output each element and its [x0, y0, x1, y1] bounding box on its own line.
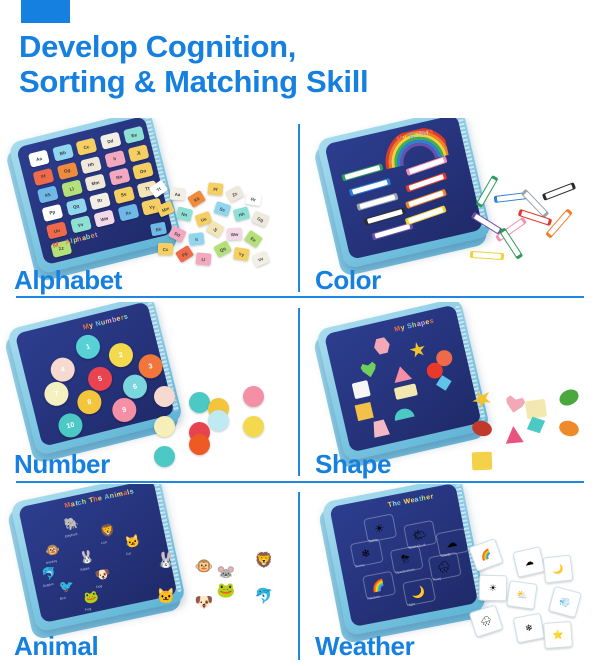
alphabet-tile: Xx: [117, 204, 139, 222]
weather-icon: ☀: [369, 519, 390, 538]
animal-loose-piece: 🐬: [254, 586, 274, 606]
alphabet-tile: Aa: [28, 150, 50, 168]
weather-loose-cards: 🌈☁🌙☀⛅💨🌧❄⭐: [466, 536, 598, 646]
weather-loose-card: 🌙: [543, 555, 574, 584]
crayon: [349, 178, 391, 196]
crayon: [341, 163, 383, 181]
alphabet-loose-tile: Kk: [187, 190, 206, 208]
weather-loose-card: 💨: [548, 586, 582, 618]
weather-book-title: The Weather: [387, 493, 434, 509]
animal-loose-piece: 🦁: [254, 550, 274, 570]
alphabet-tile: Mm: [84, 174, 106, 192]
weather-book: ☀Sunny🌤Moon Cloud☁Cloudy❄Snowy⛈Thunderst…: [321, 484, 486, 636]
alphabet-tile: Gg: [56, 162, 78, 180]
shape-piece: [355, 402, 374, 421]
animal-mini-label: Cat: [126, 551, 132, 556]
alphabet-tile: Ii: [104, 150, 126, 168]
number-book-title: My Numbers: [82, 313, 128, 331]
alphabet-loose-tile: Zz: [225, 185, 244, 203]
alphabet-tile-grid: AaBbCcDdEeFfGgHhIiJjKkLlMmNnOoPpQqRrSsTt…: [16, 118, 144, 148]
number-loose-disc: [243, 386, 264, 407]
weather-loose-card: ☀: [479, 575, 507, 601]
alphabet-tile: Nn: [108, 168, 130, 186]
alphabet-tile: Pp: [41, 203, 63, 221]
alphabet-loose-tile: Ss: [214, 201, 232, 217]
shape-loose-piece: [470, 419, 493, 438]
alphabet-tile: Jj: [128, 144, 150, 162]
number-circle: 10: [56, 411, 85, 440]
alphabet-loose-tile: Hh: [233, 206, 251, 221]
weather-loose-card: ❄: [513, 613, 545, 644]
rabbit-icon: 🐰: [76, 547, 97, 568]
number-circle: 4: [48, 355, 77, 384]
panel-animal: 🐘Elephant🦁Lion🐵Monkey🐰Rabbit🐱Cat🐬Dolphin…: [0, 484, 299, 666]
bird-icon: 🐦: [56, 576, 77, 597]
alphabet-tile: Qq: [65, 197, 87, 215]
shape-piece: [394, 383, 418, 400]
weather-mini-label: Snowy: [355, 563, 365, 569]
weather-loose-card: ⛅: [506, 580, 537, 610]
shape-piece: [391, 364, 412, 383]
crayon: [356, 193, 398, 211]
panel-label-shape: Shape: [315, 449, 391, 480]
alphabet-tile: Ww: [93, 209, 115, 227]
weather-icon: ❄: [355, 544, 376, 563]
shape-grid: [324, 305, 455, 335]
color-loose-crayons: [466, 180, 586, 275]
number-circle: 2: [106, 341, 135, 370]
panel-label-animal: Animal: [14, 631, 98, 662]
alphabet-loose-tile: Ee: [244, 230, 263, 248]
alphabet-tile: Ll: [61, 179, 83, 197]
alphabet-tile: Ff: [32, 167, 54, 185]
weather-loose-card: 🌈: [468, 538, 503, 572]
alphabet-loose-tile: Rr: [245, 192, 262, 206]
alphabet-loose-tile: Bb: [150, 222, 167, 237]
shape-loose-piece: [557, 418, 581, 438]
shape-piece: [371, 419, 390, 438]
alphabet-loose-tile: Yy: [233, 247, 250, 261]
panel-label-weather: Weather: [315, 631, 414, 662]
animal-loose-pieces: 🐰🐵🐭🦁🐱🐶🐸🐬: [148, 546, 278, 631]
animal-mini-label: Bird: [60, 596, 66, 601]
weather-loose-card: ☁: [512, 546, 545, 578]
panel-alphabet: AaBbCcDdEeFfGgHhIiJjKkLlMmNnOoPpQqRrSsTt…: [0, 118, 299, 300]
alphabet-loose-tile: Ff: [207, 182, 223, 196]
animal-mini-label: Frog: [84, 607, 91, 612]
number-circle: 7: [42, 379, 71, 408]
number-loose-disc: [208, 410, 229, 431]
alphabet-loose-tile: Nn: [176, 206, 193, 221]
shape-loose-piece: [469, 386, 495, 412]
weather-icon: 🌙: [408, 582, 429, 601]
animal-loose-piece: 🐱: [156, 586, 176, 606]
animal-mini-label: Rabbit: [80, 566, 90, 572]
alphabet-loose-tile: Ww: [227, 228, 243, 241]
alphabet-tile: Dd: [99, 132, 121, 150]
alphabet-tile: Rr: [89, 192, 111, 210]
monkey-icon: 🐵: [42, 540, 63, 561]
alphabet-tile: Uu: [46, 221, 68, 239]
accent-square: [21, 0, 70, 23]
shape-loose-piece: [557, 386, 582, 408]
weather-book-cover: ☀Sunny🌤Moon Cloud☁Cloudy❄Snowy⛈Thunderst…: [329, 484, 478, 627]
number-loose-disc: [154, 446, 175, 467]
shape-loose-pieces: [466, 382, 591, 464]
shape-loose-piece: [504, 425, 523, 444]
alphabet-loose-tile: Aa: [170, 188, 185, 201]
panel-label-number: Number: [14, 449, 110, 480]
number-loose-disc: [189, 392, 210, 413]
loose-crayon: [542, 182, 576, 201]
loose-crayon: [475, 175, 498, 208]
number-loose-discs: [150, 380, 275, 460]
alphabet-tile: Vv: [70, 215, 92, 233]
alphabet-loose-tile: Tt: [149, 180, 168, 198]
number-circle: 8: [75, 388, 104, 417]
cat-icon: 🐱: [122, 531, 143, 552]
alphabet-tile: Bb: [52, 144, 74, 162]
shape-book-title: My Shapes: [394, 318, 435, 334]
weather-loose-card: 🌧: [469, 604, 504, 637]
weather-mini-label: Night: [407, 602, 415, 607]
weather-mini-label: Rainy: [433, 576, 442, 581]
panel-number: 12345678910 My Numbers Number: [0, 302, 299, 484]
shape-loose-piece: [525, 399, 547, 420]
panel-weather: ☀Sunny🌤Moon Cloud☁Cloudy❄Snowy⛈Thunderst…: [301, 484, 600, 666]
weather-loose-card: ⭐: [543, 621, 573, 649]
shape-piece: [352, 380, 371, 399]
animal-loose-piece: 🐶: [194, 592, 214, 612]
number-loose-disc: [243, 416, 264, 437]
number-circle: 1: [73, 332, 102, 361]
panel-label-alphabet: Alphabet: [14, 265, 122, 296]
alphabet-loose-tile: Gg: [251, 211, 269, 228]
alphabet-tile: Ss: [113, 186, 135, 204]
alphabet-loose-tile: Cc: [158, 243, 173, 255]
crayon: [364, 207, 406, 225]
alphabet-loose-tile: Vv: [251, 250, 270, 267]
weather-icon: ☁: [441, 533, 462, 552]
product-feature-image: Develop Cognition, Sorting & Matching Sk…: [0, 0, 600, 664]
weather-icon: 🌧: [433, 557, 454, 576]
weather-mini-label: Rainbow: [367, 594, 380, 600]
number-loose-disc: [154, 386, 175, 407]
shape-piece: [372, 336, 391, 355]
panel-label-color: Color: [315, 265, 381, 296]
page-title-line2: Sorting & Matching Skill: [19, 65, 579, 100]
alphabet-loose-tile: Dd: [168, 225, 187, 242]
panel-shape: My Shapes Shape: [301, 302, 600, 484]
shape-piece: [408, 340, 427, 359]
weather-icon: 🌤: [409, 525, 430, 544]
shape-book: My Shapes: [316, 302, 491, 462]
panel-color: My Colors Color: [301, 118, 600, 300]
animal-loose-piece: 🐭: [216, 562, 236, 582]
alphabet-tile: Hh: [80, 156, 102, 174]
alphabet-tile: Kk: [37, 185, 59, 203]
animal-loose-piece: 🐰: [156, 550, 176, 570]
feature-grid: AaBbCcDdEeFfGgHhIiJjKkLlMmNnOoPpQqRrSsTt…: [0, 118, 600, 664]
alphabet-loose-tile: Ll: [196, 252, 212, 265]
alphabet-tile: Ee: [123, 126, 145, 144]
animal-mini-label: Lion: [101, 540, 108, 545]
shape-piece: [359, 360, 378, 379]
shape-piece: [393, 407, 415, 421]
alphabet-loose-tile: Ii: [188, 232, 204, 246]
page-title: Develop Cognition, Sorting & Matching Sk…: [19, 30, 579, 99]
alphabet-tile: Cc: [76, 138, 98, 156]
shape-loose-piece: [503, 393, 526, 414]
lion-icon: 🦁: [97, 520, 118, 541]
dog-icon: 🐶: [92, 564, 113, 585]
animal-mini-label: Dolphin: [42, 582, 53, 588]
alphabet-loose-tile: Qq: [213, 240, 232, 258]
frog-icon: 🐸: [81, 587, 102, 608]
number-circle: 9: [110, 395, 139, 424]
page-title-line1: Develop Cognition,: [19, 30, 579, 65]
number-loose-disc: [189, 434, 210, 455]
shape-loose-piece: [472, 452, 493, 471]
elephant-icon: 🐘: [61, 513, 82, 534]
alphabet-loose-tile: Pp: [175, 245, 194, 263]
loose-crayon: [470, 251, 504, 260]
alphabet-loose-tile: Mm: [156, 201, 174, 218]
number-loose-disc: [154, 416, 175, 437]
alphabet-loose-tiles: TtAaKkFfZzRrMmNnUuSsHhGgBbDdIiJjWwEeCcPp…: [145, 173, 275, 273]
animal-loose-piece: 🐸: [216, 580, 236, 600]
crayon: [405, 205, 447, 225]
weather-icon: 🌈: [368, 576, 389, 595]
animal-loose-piece: 🐵: [194, 556, 214, 576]
